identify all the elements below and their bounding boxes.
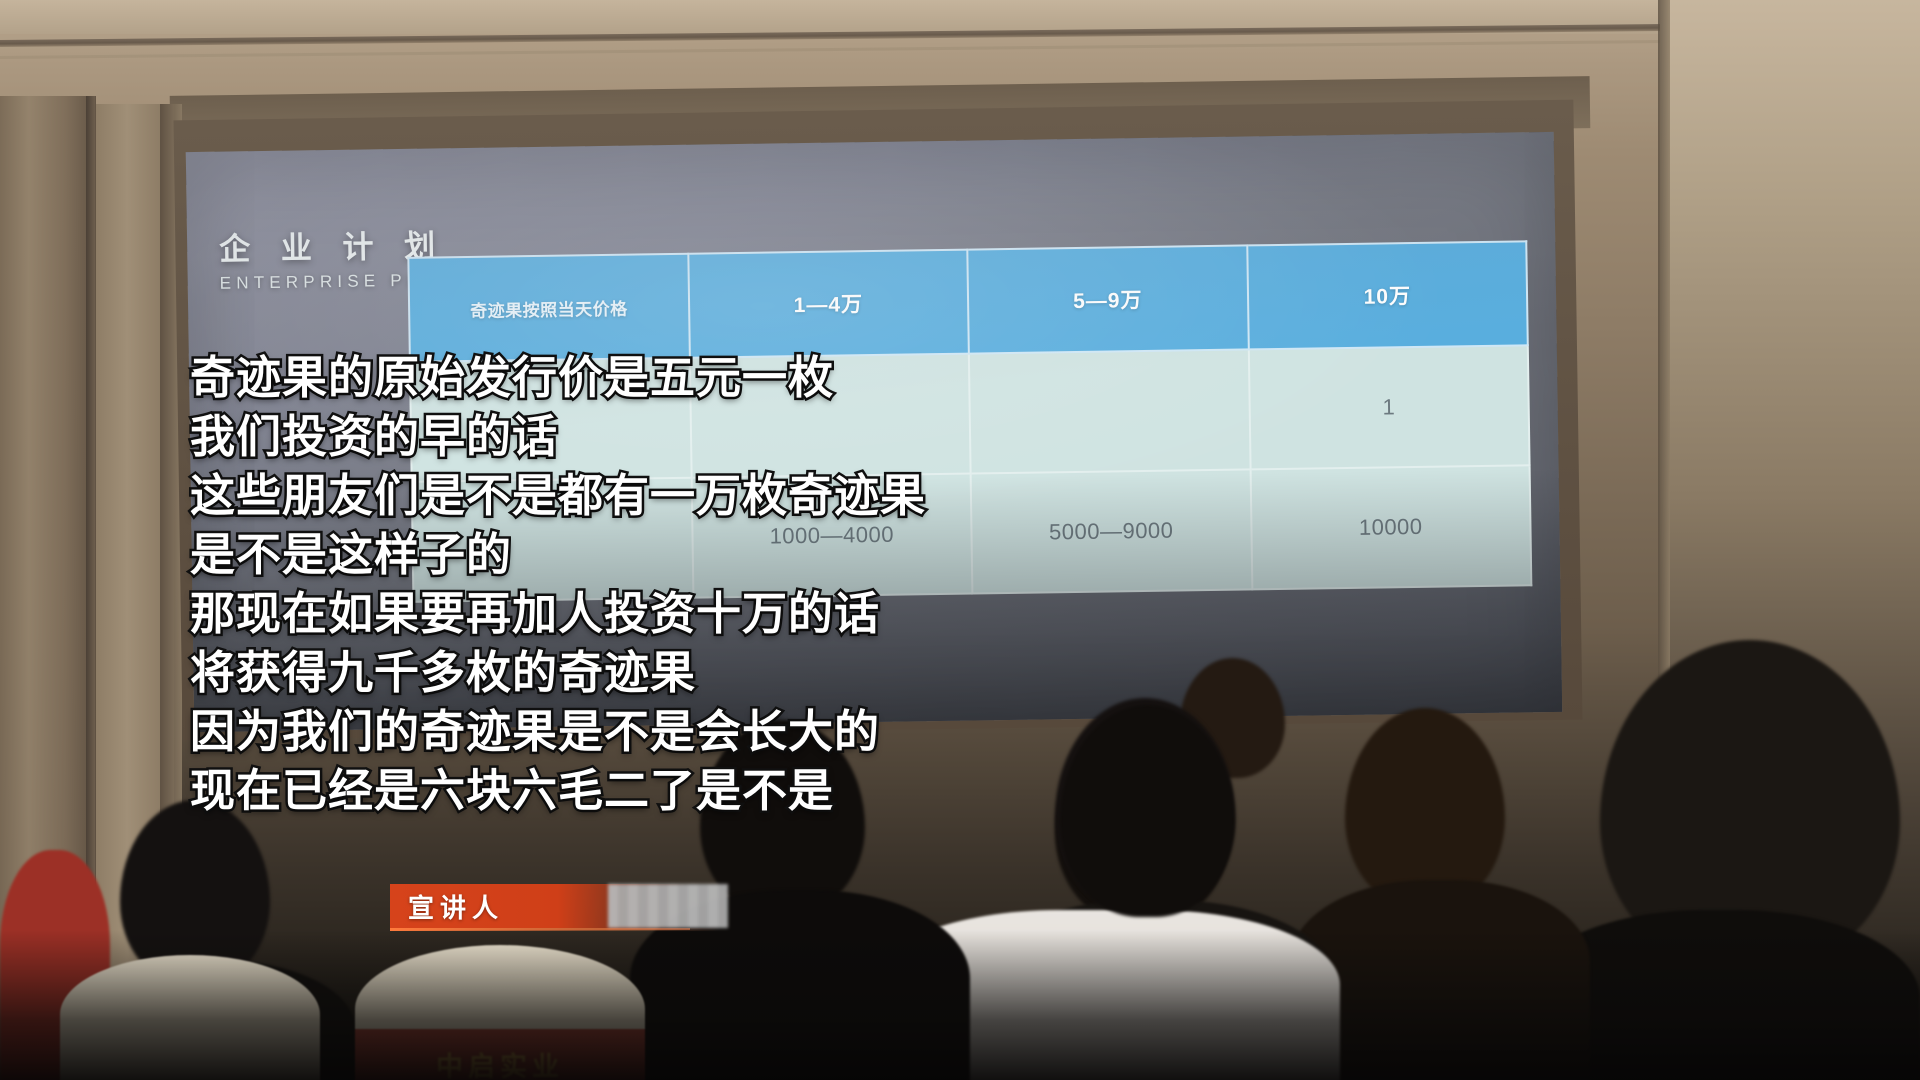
speaker-name-redacted xyxy=(608,884,728,928)
table-col-header-3: 10万 xyxy=(1247,241,1528,349)
subtitle-line: 将获得九千多枚的奇迹果 xyxy=(190,643,1510,702)
table-col-header-1: 1—4万 xyxy=(688,250,969,358)
subtitle-block: 奇迹果的原始发行价是五元一枚 我们投资的早的话 这些朋友们是不是都有一万枚奇迹果… xyxy=(190,348,1510,820)
subtitle-line: 是不是这样子的 xyxy=(190,525,1510,584)
subtitle-line: 现在已经是六块六毛二了是不是 xyxy=(190,761,1510,820)
screenshot-stage: 企 业 计 划 ENTERPRISE PLAN 奇迹果按照当天价格 1—4万 5… xyxy=(0,0,1920,1080)
speaker-banner: 宣讲人 xyxy=(390,884,690,928)
table-col-header-2: 5—9万 xyxy=(967,245,1248,353)
subtitle-line: 因为我们的奇迹果是不是会长大的 xyxy=(190,702,1510,761)
table-header-row: 奇迹果按照当天价格 1—4万 5—9万 10万 xyxy=(408,241,1527,362)
speaker-label: 宣讲人 xyxy=(390,888,504,925)
floor-shadow xyxy=(0,930,1920,1080)
subtitle-line: 我们投资的早的话 xyxy=(190,407,1510,466)
subtitle-line: 这些朋友们是不是都有一万枚奇迹果 xyxy=(190,466,1510,525)
subtitle-line: 奇迹果的原始发行价是五元一枚 xyxy=(190,348,1510,407)
subtitle-line: 那现在如果要再加人投资十万的话 xyxy=(190,584,1510,643)
table-col-header-0: 奇迹果按照当天价格 xyxy=(408,254,689,362)
